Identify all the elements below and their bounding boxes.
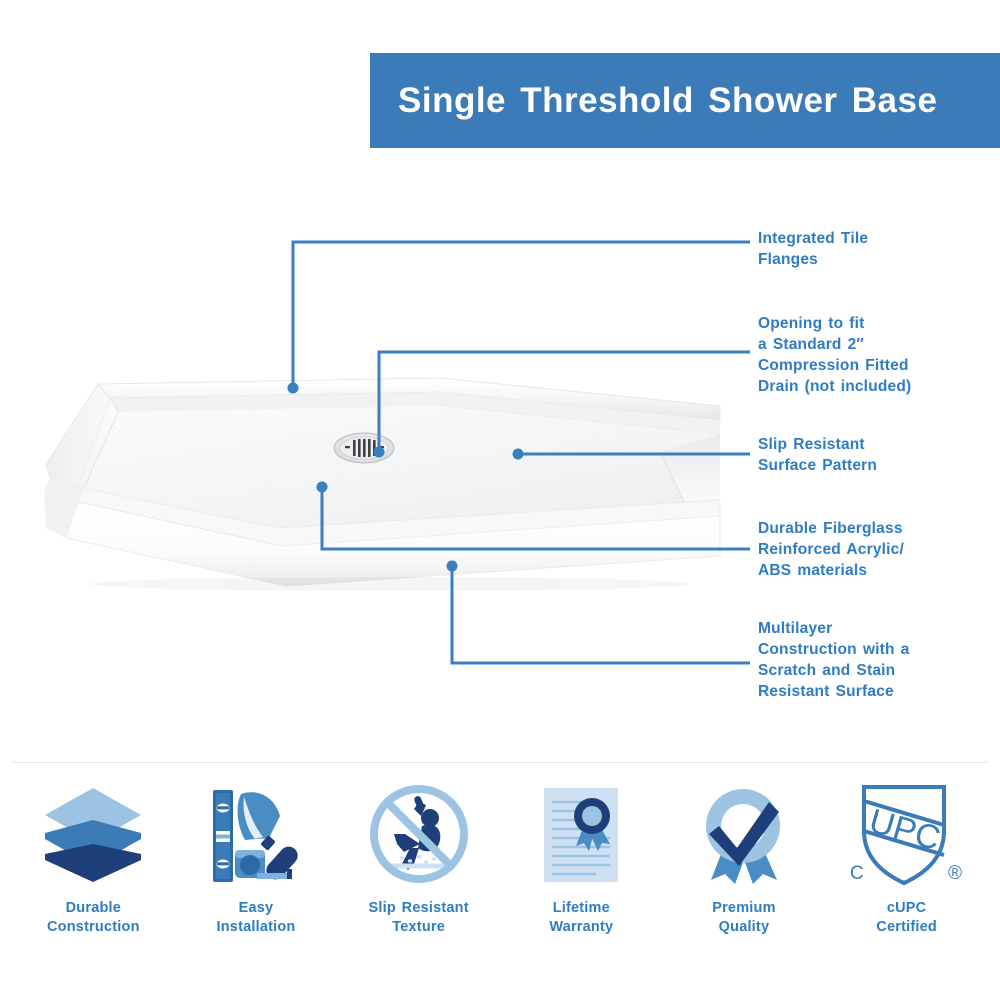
feature-easy-installation: Easy Installation — [176, 775, 336, 937]
leader-dot-materials — [317, 482, 328, 493]
callout-slip-resistant-surface-pattern: Slip Resistant Surface Pattern — [758, 434, 877, 476]
award-check-icon — [679, 775, 809, 893]
leader-drain-opening — [379, 352, 750, 452]
upc-shield-registered-mark: ® — [948, 863, 962, 884]
leader-durable-materials — [322, 487, 750, 549]
certificate-icon — [516, 775, 646, 893]
feature-premium-quality: Premium Quality — [664, 775, 824, 937]
leader-dot-drain — [374, 447, 385, 458]
leader-multilayer-construction — [452, 566, 750, 663]
feature-label-durable-construction: Durable Construction — [47, 899, 140, 937]
feature-highlights-row: Durable Construction — [12, 775, 988, 965]
feature-slip-resistant-texture: Slip Resistant Texture — [339, 775, 499, 937]
callout-durable-materials: Durable Fiberglass Reinforced Acrylic/ A… — [758, 518, 904, 581]
feature-label-slip-resistant-texture: Slip Resistant Texture — [369, 899, 469, 937]
upc-shield-c-mark: C — [850, 863, 864, 884]
upc-shield-icon: UPC C ® — [842, 775, 972, 893]
no-slip-icon — [354, 775, 484, 893]
feature-cupc-certified: UPC C ® cUPC Certified — [827, 775, 987, 937]
callout-drain-opening: Opening to fit a Standard 2″ Compression… — [758, 313, 911, 397]
feature-label-cupc-certified: cUPC Certified — [876, 899, 937, 937]
upc-shield-text: UPC — [865, 802, 944, 858]
feature-label-easy-installation: Easy Installation — [217, 899, 296, 937]
leader-dot-tile-flanges — [288, 383, 299, 394]
leader-dot-construction — [447, 561, 458, 572]
stacked-layers-icon — [28, 775, 158, 893]
callout-integrated-tile-flanges: Integrated Tile Flanges — [758, 228, 868, 270]
feature-label-lifetime-warranty: Lifetime Warranty — [549, 899, 613, 937]
infographic-page: Single Threshold Shower Base — [0, 0, 1000, 1000]
feature-durable-construction: Durable Construction — [13, 775, 173, 937]
section-divider — [12, 762, 988, 763]
leader-integrated-tile-flanges — [293, 242, 750, 388]
level-trowel-tape-icon — [191, 775, 321, 893]
feature-label-premium-quality: Premium Quality — [712, 899, 775, 937]
leader-dot-surface — [513, 449, 524, 460]
feature-lifetime-warranty: Lifetime Warranty — [501, 775, 661, 937]
callout-multilayer-construction: Multilayer Construction with a Scratch a… — [758, 618, 909, 702]
